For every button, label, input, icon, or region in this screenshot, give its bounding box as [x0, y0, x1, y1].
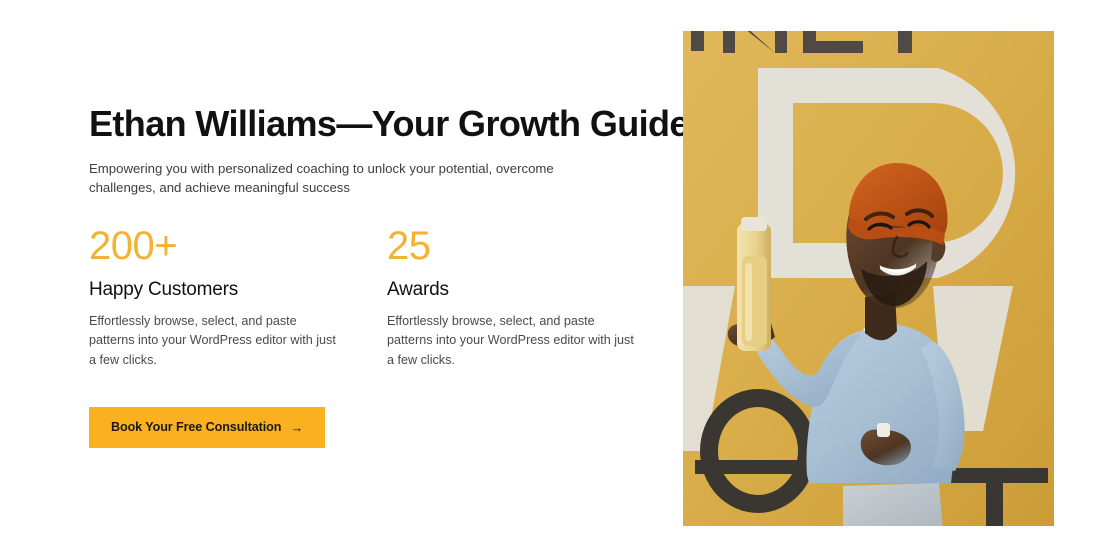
book-consultation-label: Book Your Free Consultation	[111, 421, 281, 434]
arrow-right-icon: →	[290, 421, 303, 434]
stat-label: Awards	[387, 279, 637, 301]
stats-group: 200+ Happy Customers Effortlessly browse…	[89, 226, 649, 371]
hero-subtitle: Empowering you with personalized coachin…	[89, 159, 589, 197]
hero-photo	[683, 31, 1054, 526]
stat-description: Effortlessly browse, select, and paste p…	[387, 312, 637, 371]
stat-label: Happy Customers	[89, 279, 387, 301]
stat-description: Effortlessly browse, select, and paste p…	[89, 312, 339, 371]
stat-item-happy-customers: 200+ Happy Customers Effortlessly browse…	[89, 226, 387, 371]
stat-item-awards: 25 Awards Effortlessly browse, select, a…	[387, 226, 637, 371]
stat-number: 200+	[89, 226, 387, 266]
stat-number: 25	[387, 226, 637, 266]
hero-content: Ethan Williams—Your Growth Guide Empower…	[89, 104, 649, 448]
hero-section: Ethan Williams—Your Growth Guide Empower…	[0, 0, 1100, 559]
page-title: Ethan Williams—Your Growth Guide	[89, 104, 649, 144]
book-consultation-button[interactable]: Book Your Free Consultation →	[89, 407, 325, 448]
hero-photo-illustration	[683, 31, 1054, 526]
